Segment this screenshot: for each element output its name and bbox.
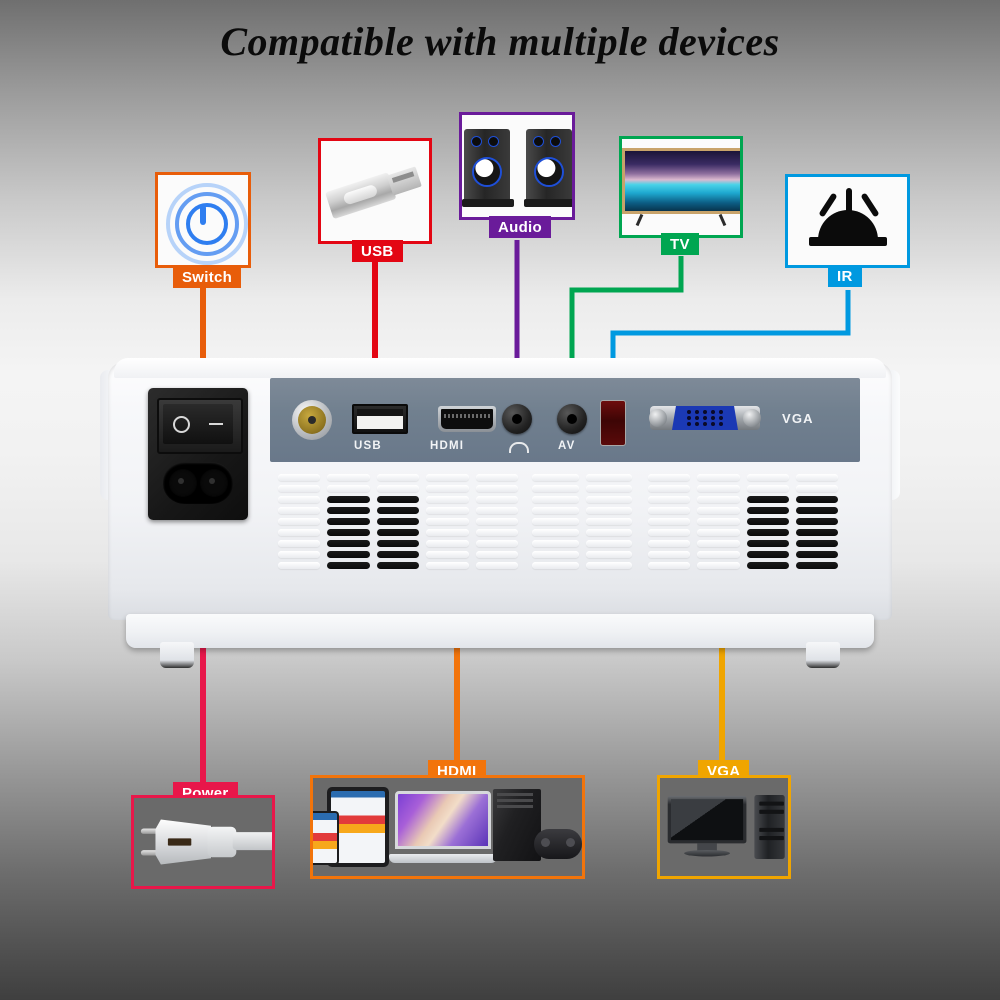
television-icon <box>622 148 740 226</box>
usb-callout-box <box>318 138 432 244</box>
port-label-hdmi: HDMI <box>430 440 464 452</box>
port-label-av: AV <box>558 440 576 452</box>
vent-grid-right <box>648 474 838 569</box>
port-label-vga: VGA <box>782 411 814 426</box>
switch-on-marking <box>209 423 223 426</box>
laptop-icon <box>389 791 493 863</box>
tv-callout-box <box>619 136 743 238</box>
vent-grid-middle <box>532 474 632 569</box>
callout-label-audio: Audio <box>489 216 551 238</box>
hdmi-port[interactable] <box>438 406 496 432</box>
power-button-icon <box>166 183 240 257</box>
iec-power-socket <box>163 462 233 504</box>
port-label-usb: USB <box>354 440 382 452</box>
switch-callout-box <box>155 172 251 268</box>
usb-port[interactable] <box>352 404 408 434</box>
hdmi-callout-box <box>310 775 585 879</box>
av-jack[interactable] <box>557 404 587 434</box>
io-port-panel: USB HDMI AV VGA <box>270 378 860 462</box>
headphone-jack[interactable] <box>502 404 532 434</box>
speakers-icon <box>462 125 572 207</box>
tablet-phone-icon <box>327 787 389 867</box>
ir-callout-box <box>785 174 910 268</box>
power-switch-block <box>148 388 248 520</box>
desktop-monitor-icon <box>668 796 738 858</box>
mini-projector-rear-panel: USB HDMI AV VGA <box>100 352 900 652</box>
antenna-coax-port[interactable] <box>292 400 332 440</box>
infrared-emitter-icon <box>803 188 893 254</box>
infographic-canvas: Compatible with multiple devices Switch <box>0 0 1000 1000</box>
vent-grid-left <box>278 474 518 569</box>
switch-off-marking <box>173 416 190 433</box>
callout-label-ir: IR <box>828 265 862 287</box>
ir-receiver-window <box>600 400 626 446</box>
headphone-icon <box>509 442 529 453</box>
usb-flash-drive-icon <box>323 157 427 225</box>
game-console-icon <box>493 789 582 865</box>
power-plug-icon <box>141 814 265 870</box>
callout-label-switch: Switch <box>173 266 241 288</box>
vga-callout-box <box>657 775 791 879</box>
power-rocker-switch[interactable] <box>157 398 243 454</box>
callout-label-tv: TV <box>661 233 699 255</box>
audio-callout-box <box>459 112 575 220</box>
power-callout-box <box>131 795 275 889</box>
callout-label-usb: USB <box>352 240 403 262</box>
desktop-tower-icon <box>754 795 785 859</box>
vga-port[interactable] <box>650 400 760 436</box>
